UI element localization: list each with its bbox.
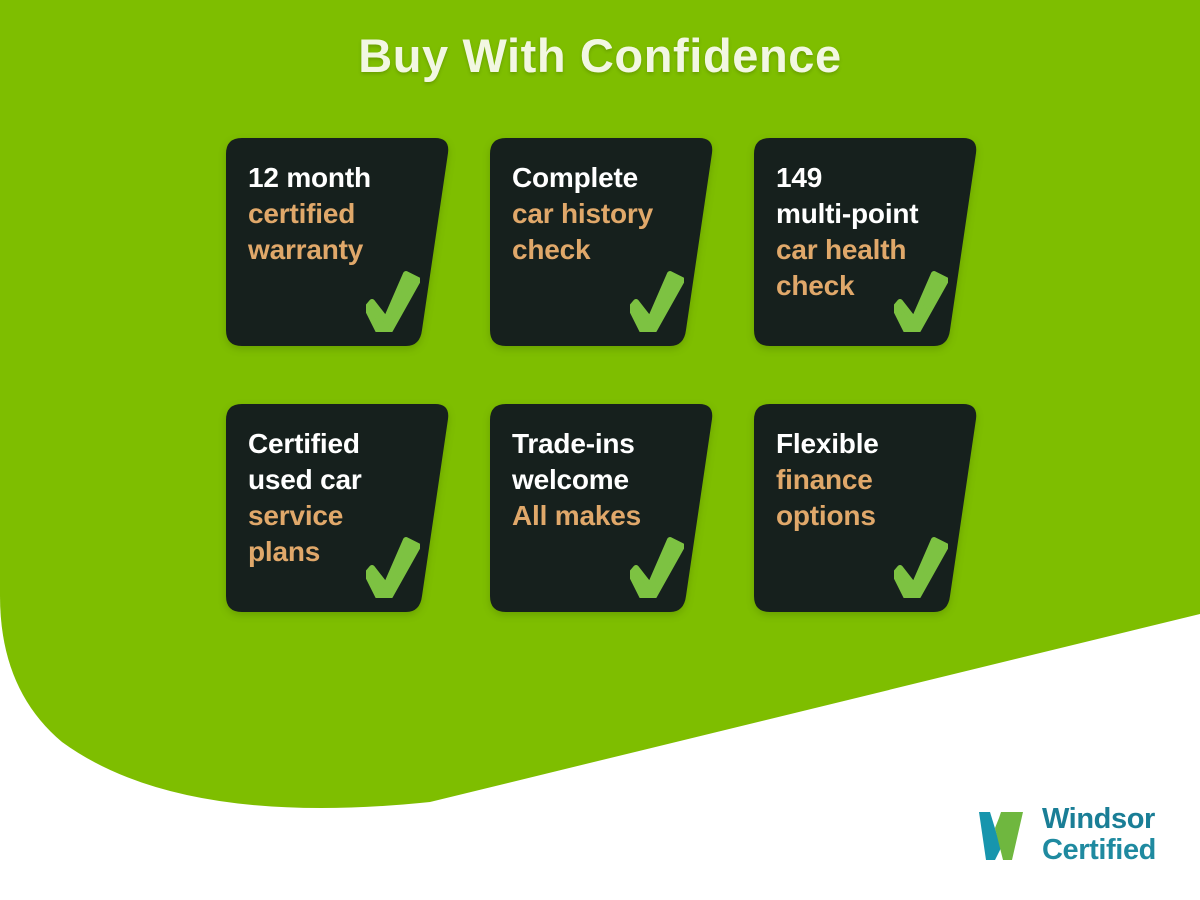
brand-line-2: Certified xyxy=(1042,835,1156,866)
check-icon xyxy=(630,536,684,598)
feature-card-health[interactable]: 149 multi-point car health check xyxy=(754,138,982,346)
feature-card-tradein[interactable]: Trade-ins welcome All makes xyxy=(490,404,718,612)
feature-card-service[interactable]: Certified used car service plans xyxy=(226,404,454,612)
card-line: options xyxy=(776,498,936,534)
card-line: car health xyxy=(776,232,936,268)
card-line: 12 month xyxy=(248,160,408,196)
card-line: Flexible xyxy=(776,426,936,462)
brand-line-1: Windsor xyxy=(1042,804,1156,835)
check-icon-svg xyxy=(630,536,684,598)
card-line: service xyxy=(248,498,408,534)
banner-canvas: Buy With Confidence 12 month certified w… xyxy=(0,0,1200,900)
check-icon xyxy=(630,270,684,332)
card-text-history: Complete car history check xyxy=(512,160,672,268)
card-line: welcome xyxy=(512,462,672,498)
card-line: warranty xyxy=(248,232,408,268)
card-line: car history xyxy=(512,196,672,232)
card-line: All makes xyxy=(512,498,672,534)
card-line: 149 xyxy=(776,160,936,196)
brand-logo[interactable]: Windsor Certified xyxy=(975,804,1156,866)
check-icon-svg xyxy=(630,270,684,332)
card-line: Trade-ins xyxy=(512,426,672,462)
check-icon-path xyxy=(367,274,418,330)
check-icon-path xyxy=(895,540,946,596)
check-icon-svg xyxy=(894,536,948,598)
card-line: check xyxy=(512,232,672,268)
check-icon xyxy=(366,270,420,332)
windsor-w-logo-icon xyxy=(975,808,1031,862)
check-icon-svg xyxy=(366,536,420,598)
check-icon-path xyxy=(631,540,682,596)
feature-cards-grid: 12 month certified warranty xyxy=(226,138,986,612)
card-text-finance: Flexible finance options xyxy=(776,426,936,534)
check-icon xyxy=(894,270,948,332)
feature-cards-row-2: Certified used car service plans xyxy=(226,404,986,612)
card-line: Complete xyxy=(512,160,672,196)
check-icon-path xyxy=(631,274,682,330)
card-line: finance xyxy=(776,462,936,498)
check-icon xyxy=(894,536,948,598)
brand-wordmark: Windsor Certified xyxy=(1042,804,1156,866)
check-icon-path xyxy=(895,274,946,330)
card-text-warranty: 12 month certified warranty xyxy=(248,160,408,268)
card-text-tradein: Trade-ins welcome All makes xyxy=(512,426,672,534)
feature-card-warranty[interactable]: 12 month certified warranty xyxy=(226,138,454,346)
card-line: certified xyxy=(248,196,408,232)
check-icon-path xyxy=(367,540,418,596)
card-line: used car xyxy=(248,462,408,498)
check-icon xyxy=(366,536,420,598)
check-icon-svg xyxy=(894,270,948,332)
page-title: Buy With Confidence xyxy=(0,28,1200,83)
windsor-w-logo-svg xyxy=(975,808,1031,862)
feature-card-finance[interactable]: Flexible finance options xyxy=(754,404,982,612)
card-line: multi-point xyxy=(776,196,936,232)
feature-cards-row-1: 12 month certified warranty xyxy=(226,138,986,346)
check-icon-svg xyxy=(366,270,420,332)
card-line: Certified xyxy=(248,426,408,462)
feature-card-history[interactable]: Complete car history check xyxy=(490,138,718,346)
